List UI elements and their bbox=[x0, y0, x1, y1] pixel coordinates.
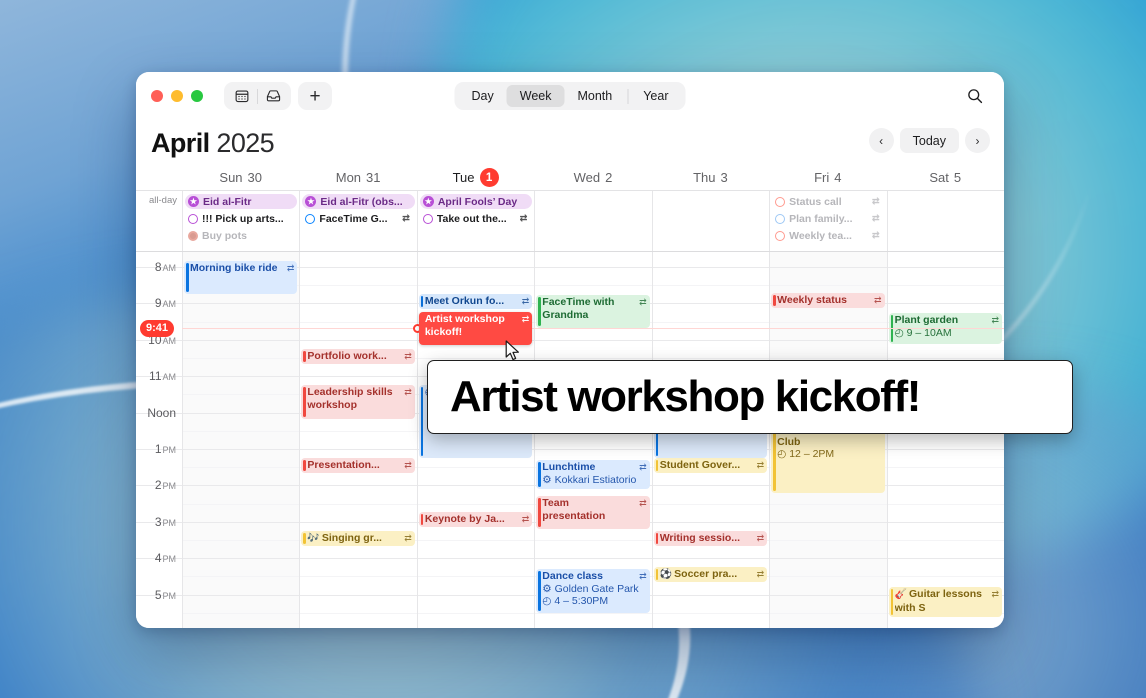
event-color-bar bbox=[538, 571, 541, 611]
column-gridline bbox=[182, 252, 183, 628]
event-color-bar bbox=[773, 295, 776, 306]
all-day-event[interactable]: ★Eid al-Fitr (obs... bbox=[302, 194, 414, 209]
all-day-column-5[interactable]: Status call⇄Plan family...⇄Weekly tea...… bbox=[769, 191, 886, 251]
hour-label-period: AM bbox=[163, 263, 177, 273]
event-title: Student Gover... bbox=[660, 459, 763, 472]
hour-label-value: 11 bbox=[149, 369, 161, 383]
event-color-bar bbox=[538, 498, 541, 527]
day-header-date: 4 bbox=[834, 170, 841, 185]
hour-label-period: PM bbox=[163, 445, 177, 455]
event-presentation[interactable]: ⇄Presentation... bbox=[301, 458, 414, 473]
view-month[interactable]: Month bbox=[564, 85, 625, 107]
traffic-lights bbox=[151, 90, 203, 102]
day-header-weekday: Sun bbox=[219, 170, 242, 185]
repeat-icon: ⇄ bbox=[639, 461, 647, 474]
reminder-circle-icon[interactable] bbox=[775, 214, 785, 224]
day-header-weekday: Mon bbox=[336, 170, 361, 185]
hour-label: 8AM bbox=[136, 260, 176, 274]
repeat-icon: ⇄ bbox=[991, 314, 999, 327]
day-header-weekday: Tue bbox=[453, 170, 475, 185]
day-header-date: 31 bbox=[366, 170, 380, 185]
hour-label-period: PM bbox=[163, 518, 177, 528]
all-day-column-0[interactable]: ★Eid al-Fitr!!! Pick up arts...Buy pots bbox=[182, 191, 299, 251]
event-title-text: Guitar lessons with S bbox=[895, 588, 982, 614]
current-time-line bbox=[182, 328, 1004, 329]
mouse-cursor bbox=[505, 340, 521, 362]
column-gridline bbox=[887, 252, 888, 628]
day-header-sat[interactable]: Sat5 bbox=[887, 168, 1004, 187]
hour-label-value: 9 bbox=[155, 296, 162, 310]
event-lunchtime[interactable]: ⇄Lunchtime⚙ Kokkari Estiatorio bbox=[536, 460, 649, 489]
event-title: Portfolio work... bbox=[307, 350, 410, 363]
repeat-icon: ⇄ bbox=[757, 568, 765, 581]
event-title-text: FaceTime with Grandma bbox=[542, 296, 614, 321]
event-dance-class[interactable]: ⇄Dance class⚙ Golden Gate Park◴ 4 – 5:30… bbox=[536, 569, 649, 613]
holiday-star-icon: ★ bbox=[423, 196, 434, 207]
all-day-event[interactable]: Take out the...⇄ bbox=[420, 211, 532, 226]
search-icon[interactable] bbox=[960, 82, 990, 110]
event-title: Leadership skills workshop bbox=[307, 386, 410, 411]
all-day-column-4[interactable] bbox=[652, 191, 769, 251]
event-title: Artist workshop kickoff! bbox=[425, 313, 528, 338]
event-title-text: Dance class bbox=[542, 570, 603, 582]
event-color-bar bbox=[303, 533, 306, 544]
hour-label: 11AM bbox=[136, 369, 176, 383]
all-day-event-title: Eid al-Fitr bbox=[203, 196, 292, 208]
event-time-range: ◴ 4 – 5:30PM bbox=[542, 595, 645, 608]
zoom-button[interactable] bbox=[191, 90, 203, 102]
all-day-event[interactable]: FaceTime G...⇄ bbox=[302, 211, 414, 226]
event-title: Keynote by Ja... bbox=[425, 513, 528, 526]
day-header-wed[interactable]: Wed2 bbox=[534, 168, 651, 187]
repeat-icon: ⇄ bbox=[872, 213, 880, 224]
repeat-icon: ⇄ bbox=[522, 313, 530, 326]
event-weekly-status[interactable]: ⇄Weekly status bbox=[771, 293, 884, 308]
repeat-icon: ⇄ bbox=[639, 570, 647, 583]
day-header-row: Sun30Mon31Tue1Wed2Thu3Fri4Sat5 bbox=[136, 166, 1004, 190]
hour-gridline bbox=[136, 340, 1004, 341]
hour-label-value: 3 bbox=[155, 515, 162, 529]
all-day-column-1[interactable]: ★Eid al-Fitr (obs...FaceTime G...⇄ bbox=[299, 191, 416, 251]
event-guitar-lessons[interactable]: ⇄🎸Guitar lessons with S bbox=[889, 587, 1002, 617]
view-day[interactable]: Day bbox=[459, 85, 507, 107]
event-subtitle: ◴ 12 – 2PM bbox=[777, 448, 880, 461]
reminder-completed-icon[interactable] bbox=[188, 231, 198, 241]
day-header-thu[interactable]: Thu3 bbox=[652, 168, 769, 187]
repeat-icon: ⇄ bbox=[757, 532, 765, 545]
repeat-icon: ⇄ bbox=[872, 196, 880, 207]
hour-label: 4PM bbox=[136, 551, 176, 565]
hour-label-period: PM bbox=[163, 481, 177, 491]
day-header-sun[interactable]: Sun30 bbox=[182, 168, 299, 187]
all-day-event-title: Buy pots bbox=[202, 230, 292, 242]
event-leadership-skills-workshop[interactable]: ⇄Leadership skills workshop bbox=[301, 385, 414, 419]
half-hour-gridline bbox=[182, 285, 1004, 286]
event-color-bar bbox=[656, 533, 659, 544]
event-title-tooltip: Artist workshop kickoff! bbox=[427, 360, 1073, 434]
toolbar-segment-group bbox=[224, 82, 291, 110]
repeat-icon: ⇄ bbox=[757, 459, 765, 472]
current-time-badge: 9:41 bbox=[140, 320, 174, 337]
all-day-event-title: Eid al-Fitr (obs... bbox=[320, 196, 409, 208]
event-title-text: Lunchtime bbox=[542, 461, 595, 473]
repeat-icon: ⇄ bbox=[639, 296, 647, 309]
holiday-star-icon: ★ bbox=[188, 196, 199, 207]
minimize-button[interactable] bbox=[171, 90, 183, 102]
event-title: Team presentation bbox=[542, 497, 645, 522]
hour-label-period: AM bbox=[163, 336, 177, 346]
repeat-icon: ⇄ bbox=[404, 350, 412, 363]
all-day-event[interactable]: ★April Fools’ Day bbox=[420, 194, 532, 209]
reminder-circle-icon[interactable] bbox=[423, 214, 433, 224]
event-meet-orkun-for[interactable]: ⇄Meet Orkun fo... bbox=[419, 294, 532, 309]
holiday-star-icon: ★ bbox=[305, 196, 316, 207]
day-header-date: 5 bbox=[954, 170, 961, 185]
event-title-text: Team presentation bbox=[542, 497, 605, 522]
event-emoji-icon: 🎸 bbox=[895, 589, 907, 600]
event-title-text: Presentation... bbox=[307, 459, 379, 471]
reminder-circle-icon[interactable] bbox=[775, 231, 785, 241]
close-button[interactable] bbox=[151, 90, 163, 102]
day-header-mon[interactable]: Mon31 bbox=[299, 168, 416, 187]
day-header-date: 2 bbox=[605, 170, 612, 185]
tooltip-text: Artist workshop kickoff! bbox=[450, 372, 920, 422]
inbox-icon[interactable] bbox=[258, 85, 288, 107]
day-header-date: 3 bbox=[720, 170, 727, 185]
event-team-presentation[interactable]: ⇄Team presentation bbox=[536, 496, 649, 529]
reminder-circle-icon[interactable] bbox=[305, 214, 315, 224]
column-gridline bbox=[417, 252, 418, 628]
event-color-bar bbox=[538, 297, 541, 326]
event-title-text: Plant garden bbox=[895, 314, 959, 326]
reminder-circle-icon[interactable] bbox=[775, 197, 785, 207]
repeat-icon: ⇄ bbox=[522, 295, 530, 308]
event-title-text: Morning bike ride bbox=[190, 262, 278, 274]
event-singing-group[interactable]: ⇄🎶Singing gr... bbox=[301, 531, 414, 546]
hour-label-value: 5 bbox=[155, 588, 162, 602]
hour-label-value: Noon bbox=[147, 406, 176, 420]
hour-label: Noon bbox=[136, 406, 176, 420]
repeat-icon: ⇄ bbox=[520, 213, 528, 224]
all-day-column-2[interactable]: ★April Fools’ DayTake out the...⇄ bbox=[417, 191, 534, 251]
hour-label: 9AM bbox=[136, 296, 176, 310]
event-subtitle: ⚙ Golden Gate Park bbox=[542, 583, 645, 596]
next-week-button[interactable]: › bbox=[965, 128, 990, 153]
add-event-button[interactable]: + bbox=[298, 82, 332, 110]
date-navigation: ‹ Today › bbox=[869, 128, 990, 153]
event-color-bar bbox=[773, 424, 776, 491]
all-day-event-title: FaceTime G... bbox=[319, 213, 398, 225]
event-color-bar bbox=[303, 351, 306, 362]
event-soccer-practice[interactable]: ⇄⚽Soccer pra... bbox=[654, 567, 767, 582]
event-color-bar bbox=[656, 460, 659, 471]
hour-label-value: 8 bbox=[155, 260, 162, 274]
all-day-event-title: Plan family... bbox=[789, 213, 868, 225]
hour-label-period: PM bbox=[163, 554, 177, 564]
all-day-event-title: April Fools’ Day bbox=[438, 196, 527, 208]
event-title: Plant garden bbox=[895, 314, 998, 327]
all-day-event-title: Status call bbox=[789, 196, 868, 208]
event-title: 🎶Singing gr... bbox=[307, 532, 410, 546]
hour-label: 5PM bbox=[136, 588, 176, 602]
event-title: Lunchtime bbox=[542, 461, 645, 474]
page-title: April 2025 bbox=[151, 128, 274, 159]
event-title-text: Weekly status bbox=[777, 294, 847, 306]
all-day-event-title: Weekly tea... bbox=[789, 230, 868, 242]
hour-label-value: 2 bbox=[155, 478, 162, 492]
repeat-icon: ⇄ bbox=[639, 497, 647, 510]
header-title-row: April 2025 ‹ Today › bbox=[136, 120, 1004, 166]
repeat-icon: ⇄ bbox=[287, 262, 295, 275]
column-gridline bbox=[652, 252, 653, 628]
event-title-text: Meet Orkun fo... bbox=[425, 295, 504, 307]
all-day-label: all-day bbox=[136, 191, 182, 251]
hour-gridline bbox=[136, 558, 1004, 559]
view-year[interactable]: Year bbox=[630, 85, 681, 107]
all-day-event[interactable]: ★Eid al-Fitr bbox=[185, 194, 297, 209]
event-title-text: Student Gover... bbox=[660, 459, 741, 471]
event-color-bar bbox=[421, 387, 424, 456]
event-title-text: Singing gr... bbox=[322, 532, 382, 544]
repeat-icon: ⇄ bbox=[404, 459, 412, 472]
event-color-bar bbox=[303, 460, 306, 471]
hour-label-value: 4 bbox=[155, 551, 162, 565]
event-title: FaceTime with Grandma bbox=[542, 296, 645, 321]
all-day-event[interactable]: Weekly tea...⇄ bbox=[772, 228, 884, 243]
event-title: Dance class bbox=[542, 570, 645, 583]
all-day-event[interactable]: !!! Pick up arts... bbox=[185, 211, 297, 226]
event-title-text: Soccer pra... bbox=[674, 568, 737, 580]
event-title-text: Writing sessio... bbox=[660, 532, 740, 544]
repeat-icon: ⇄ bbox=[991, 588, 999, 601]
previous-week-button[interactable]: ‹ bbox=[869, 128, 894, 153]
column-gridline bbox=[299, 252, 300, 628]
repeat-icon: ⇄ bbox=[522, 513, 530, 526]
event-color-bar bbox=[186, 263, 189, 292]
event-emoji-icon: ⚽ bbox=[660, 569, 672, 580]
event-student-government[interactable]: ⇄Student Gover... bbox=[654, 458, 767, 473]
day-header-weekday: Fri bbox=[814, 170, 829, 185]
event-title: Writing sessio... bbox=[660, 532, 763, 545]
all-day-event[interactable]: Status call⇄ bbox=[772, 194, 884, 209]
day-header-fri[interactable]: Fri4 bbox=[769, 168, 886, 187]
hour-label-period: AM bbox=[163, 299, 177, 309]
time-grid[interactable]: 8AM9AM10AM11AMNoon1PM2PM3PM4PM5PM◴ 11AM … bbox=[136, 252, 1004, 628]
event-color-bar bbox=[656, 569, 659, 580]
window-toolbar: + Day Week Month Year bbox=[136, 72, 1004, 120]
title-year: 2025 bbox=[216, 128, 274, 158]
all-day-event-title: !!! Pick up arts... bbox=[202, 213, 292, 225]
event-keynote-by-ja[interactable]: ⇄Keynote by Ja... bbox=[419, 512, 532, 527]
all-day-column-3[interactable] bbox=[534, 191, 651, 251]
event-title: Weekly status bbox=[777, 294, 880, 307]
event-title: Meet Orkun fo... bbox=[425, 295, 528, 308]
hour-label: 3PM bbox=[136, 515, 176, 529]
hour-label: 2PM bbox=[136, 478, 176, 492]
event-color-bar bbox=[303, 387, 306, 417]
day-header-tue[interactable]: Tue1 bbox=[417, 168, 534, 187]
hour-label-value: 1 bbox=[155, 442, 162, 456]
event-title-text: Leadership skills workshop bbox=[307, 386, 392, 411]
event-portfolio-work[interactable]: ⇄Portfolio work... bbox=[301, 349, 414, 364]
event-title: Morning bike ride bbox=[190, 262, 293, 275]
column-shade bbox=[182, 252, 299, 628]
event-color-bar bbox=[538, 462, 541, 487]
event-color-bar bbox=[421, 514, 424, 525]
event-title-text: Keynote by Ja... bbox=[425, 513, 505, 525]
column-gridline bbox=[534, 252, 535, 628]
event-morning-bike-ride[interactable]: ⇄Morning bike ride bbox=[184, 261, 297, 294]
event-title: 🎸Guitar lessons with S bbox=[895, 588, 998, 614]
reminder-circle-icon[interactable] bbox=[188, 214, 198, 224]
event-color-bar bbox=[421, 296, 424, 307]
hour-label: 1PM bbox=[136, 442, 176, 456]
event-title: ⚽Soccer pra... bbox=[660, 568, 763, 582]
hour-label-period: AM bbox=[163, 372, 177, 382]
all-day-event[interactable]: Plan family...⇄ bbox=[772, 211, 884, 226]
column-gridline bbox=[769, 252, 770, 628]
today-date-badge: 1 bbox=[480, 168, 499, 187]
calendar-window: + Day Week Month Year April 2025 ‹ bbox=[136, 72, 1004, 628]
repeat-icon: ⇄ bbox=[404, 386, 412, 399]
event-writing-session[interactable]: ⇄Writing sessio... bbox=[654, 531, 767, 546]
title-month: April bbox=[151, 128, 210, 158]
desktop-background: + Day Week Month Year April 2025 ‹ bbox=[0, 0, 1146, 698]
repeat-icon: ⇄ bbox=[404, 532, 412, 545]
event-facetime-with-grandma[interactable]: ⇄FaceTime with Grandma bbox=[536, 295, 649, 328]
repeat-icon: ⇄ bbox=[402, 213, 410, 224]
event-title: Presentation... bbox=[307, 459, 410, 472]
day-header-weekday: Wed bbox=[574, 170, 601, 185]
all-day-row: all-day ★Eid al-Fitr!!! Pick up arts...B… bbox=[136, 190, 1004, 252]
day-header-weekday: Thu bbox=[693, 170, 715, 185]
day-header-date: 30 bbox=[248, 170, 262, 185]
event-emoji-icon: 🎶 bbox=[307, 533, 319, 544]
view-switcher: Day Week Month Year bbox=[455, 82, 686, 110]
all-day-event-title: Take out the... bbox=[437, 213, 516, 225]
repeat-icon: ⇄ bbox=[872, 230, 880, 241]
today-button[interactable]: Today bbox=[900, 128, 959, 153]
hour-label-period: PM bbox=[163, 591, 177, 601]
all-day-column-6[interactable] bbox=[887, 191, 1004, 251]
event-subtitle: ⚙ Kokkari Estiatorio bbox=[542, 474, 645, 487]
all-day-event[interactable]: Buy pots bbox=[185, 228, 297, 243]
calendar-icon[interactable] bbox=[227, 85, 257, 107]
view-switch-divider bbox=[627, 89, 628, 104]
event-color-bar bbox=[891, 589, 894, 615]
day-header-weekday: Sat bbox=[929, 170, 949, 185]
view-week[interactable]: Week bbox=[507, 85, 565, 107]
repeat-icon: ⇄ bbox=[874, 294, 882, 307]
event-title-text: Portfolio work... bbox=[307, 350, 386, 362]
event-title-text: Artist workshop kickoff! bbox=[425, 313, 505, 338]
